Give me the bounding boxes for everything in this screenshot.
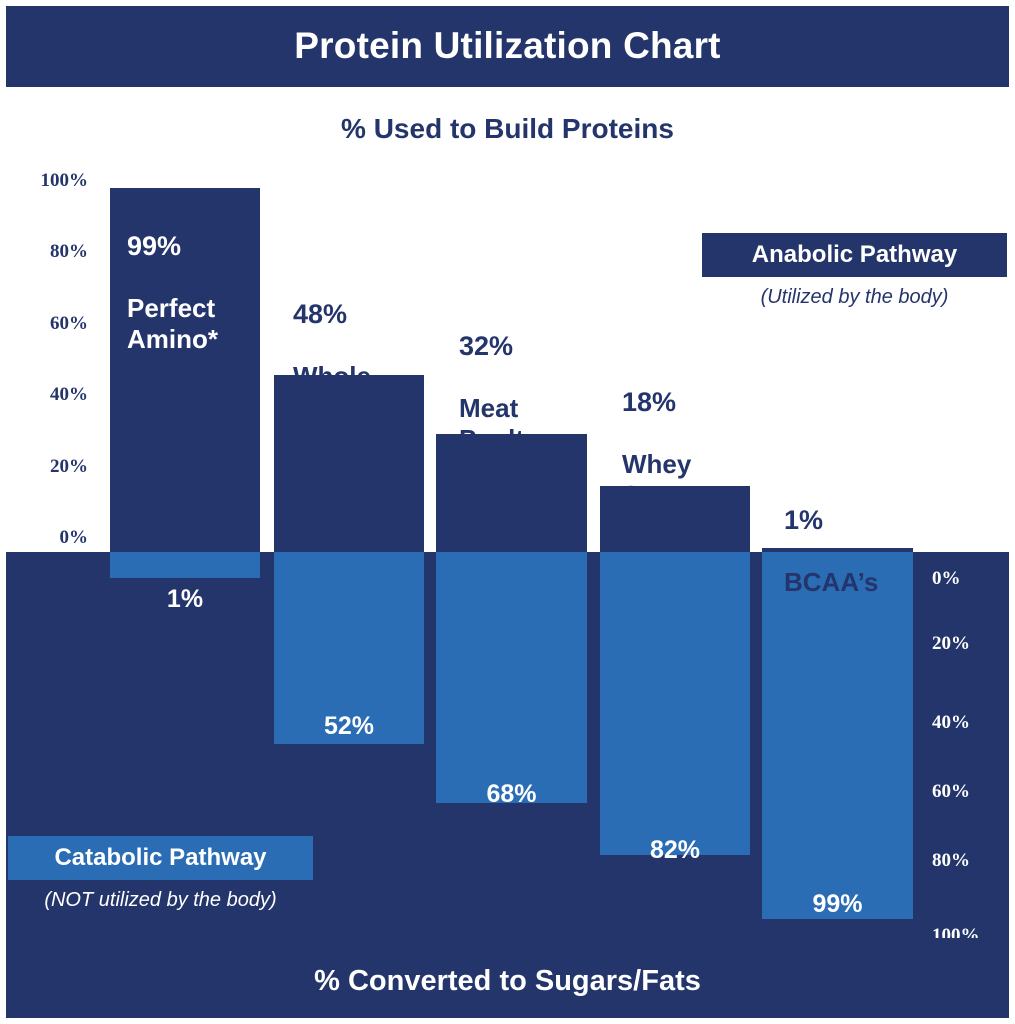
bottom-axis-band: % Converted to Sugars/Fats [0,938,1015,1024]
bar-label-meat-poultry-fish: 32% Meat Poultry & Fish [459,300,614,516]
bar-value-meat-poultry-fish-down: 68% [436,780,587,809]
catabolic-pathway-label: Catabolic Pathway [54,844,266,872]
anabolic-pathway-label: Anabolic Pathway [752,241,957,269]
catabolic-pathway-note: (NOT utilized by the body) [8,889,313,912]
page-title: Protein Utilization Chart [294,25,720,67]
bar-label-whole-eggs: 48% Whole Eggs [293,268,443,453]
bar-value-perfect-amino-up: 99% [127,231,257,263]
left-axis-tick-80: 80% [50,241,88,263]
left-axis-tick-60: 60% [50,313,88,335]
anabolic-pathway-badge: Anabolic Pathway [702,233,1007,277]
bar-value-whole-eggs-down: 52% [274,712,424,741]
bar-value-whole-eggs-up: 48% [293,299,443,331]
bar-down-meat-poultry-fish[interactable] [436,552,587,803]
left-axis-tick-100: 100% [41,170,89,192]
right-axis-tick-80: 80% [932,850,970,872]
bar-value-bcaa-up: 1% [784,505,944,537]
bar-value-whey-soy-nuts-down: 82% [600,836,750,865]
anabolic-pathway-note: (Utilized by the body) [702,286,1007,309]
bar-down-perfect-amino[interactable] [110,552,260,578]
bar-label-perfect-amino: 99% Perfect Amino* [127,200,257,385]
bottom-axis-title: % Converted to Sugars/Fats [314,965,701,998]
right-axis-tick-40: 40% [932,712,970,734]
bar-value-bcaa-down: 99% [762,890,913,919]
bar-name-whole-eggs: Whole Eggs [293,361,443,422]
left-axis-tick-20: 20% [50,456,88,478]
bar-value-perfect-amino-down: 1% [110,585,260,614]
bar-name-perfect-amino: Perfect Amino* [127,293,257,354]
bar-name-bcaa: BCAA’s [784,567,944,598]
upper-axis-title: % Used to Build Proteins [0,113,1015,145]
left-axis-tick-0: 0% [60,527,89,549]
bar-name-whey-soy-nuts: Whey Soy & Nuts [622,449,772,541]
chart-header: Protein Utilization Chart [6,4,1009,87]
right-axis-tick-20: 20% [932,633,970,655]
protein-utilization-chart: Protein Utilization Chart % Used to Buil… [0,0,1015,1024]
bar-label-bcaa: 1% BCAA’s [784,474,944,629]
bar-label-whey-soy-nuts: 18% Whey Soy & Nuts [622,356,772,572]
bar-value-whey-soy-nuts-up: 18% [622,387,772,419]
bar-down-whey-soy-nuts[interactable] [600,552,750,855]
bar-value-meat-poultry-fish-up: 32% [459,331,614,363]
catabolic-pathway-badge: Catabolic Pathway [8,836,313,880]
bar-name-meat-poultry-fish: Meat Poultry & Fish [459,393,614,485]
right-axis-tick-60: 60% [932,781,970,803]
left-axis-tick-40: 40% [50,384,88,406]
